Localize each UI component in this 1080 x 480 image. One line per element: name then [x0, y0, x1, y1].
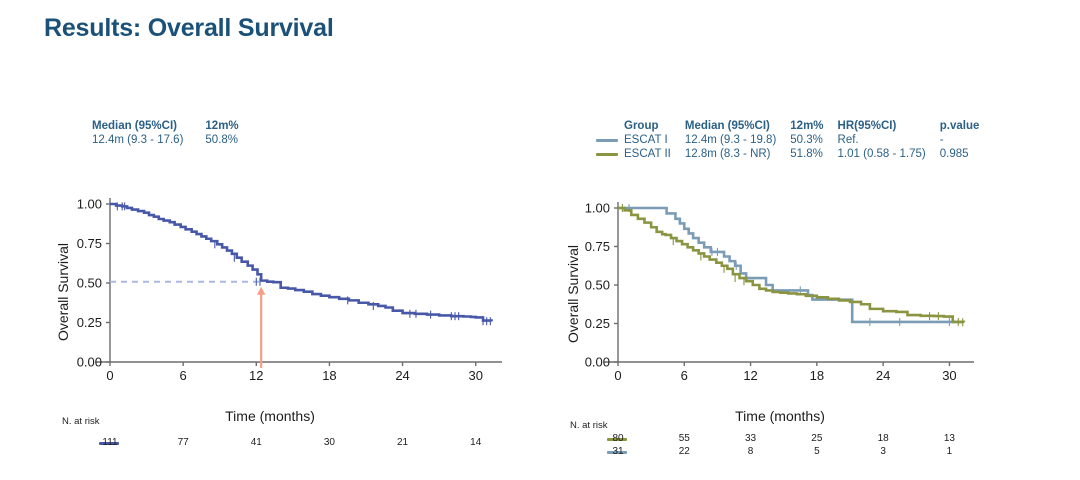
risk-count: 80 [600, 433, 636, 444]
risk-count: 5 [799, 446, 835, 457]
col-header-12m: 12m% [790, 120, 837, 134]
cell-12m: 51.8% [790, 148, 837, 162]
x-tick-label: 30 [468, 368, 482, 383]
x-tick-label: 18 [322, 368, 336, 383]
right-risk-label: N. at risk [570, 420, 607, 431]
y-tick-label: 1.00 [77, 197, 102, 212]
cell-median: 12.4m (9.3 - 19.8) [685, 134, 790, 148]
y-tick-label: 0.00 [585, 355, 610, 370]
y-tick-label: 0.50 [77, 276, 102, 291]
x-tick-label: 0 [106, 368, 113, 383]
risk-row: 31228531 [0, 446, 1080, 459]
table-header-row: Group Median (95%CI) 12m% HR(95%CI) p.va… [596, 120, 979, 134]
x-tick-label: 30 [942, 368, 956, 383]
legend-swatch-escat1-cell [596, 134, 624, 148]
legend-line-icon [596, 153, 618, 156]
table-row: ESCAT I 12.4m (9.3 - 19.8) 50.3% Ref. - [596, 134, 979, 148]
x-tick-label: 12 [743, 368, 757, 383]
table-row: 12.4m (9.3 - 17.6) 50.8% [92, 134, 239, 148]
right-km-svg: 0.000.250.500.751.000612182430 [604, 202, 972, 388]
right-y-axis-label: Overall Survival [565, 219, 581, 369]
x-tick-label: 6 [681, 368, 688, 383]
arrow-head [257, 287, 265, 295]
col-header-group: Group [624, 120, 685, 134]
x-tick-label: 6 [180, 368, 187, 383]
risk-count: 8 [733, 446, 769, 457]
risk-count: 13 [931, 433, 967, 444]
left-km-svg: 0.000.250.500.751.000612182430 [96, 198, 500, 388]
col-header-12m: 12m% [205, 120, 238, 134]
cell-hr: Ref. [838, 134, 940, 148]
legend-swatch-escat2-cell [596, 148, 624, 162]
left-risk-label: N. at risk [62, 416, 99, 427]
right-km-plot: 0.000.250.500.751.000612182430 [604, 202, 972, 388]
left-x-axis-label: Time (months) [190, 408, 350, 424]
risk-count: 22 [666, 446, 702, 457]
cell-median: 12.4m (9.3 - 17.6) [92, 134, 205, 148]
page-title: Results: Overall Survival [44, 14, 334, 43]
x-tick-label: 12 [249, 368, 263, 383]
risk-count: 55 [666, 433, 702, 444]
left-km-plot: 0.000.250.500.751.000612182430 [96, 198, 500, 388]
right-summary-table: Group Median (95%CI) 12m% HR(95%CI) p.va… [596, 120, 979, 162]
legend-line-icon [596, 139, 618, 142]
cell-pvalue: - [940, 134, 980, 148]
km-curve-escat-ii [618, 208, 964, 322]
x-tick-label: 18 [810, 368, 824, 383]
y-tick-label: 1.00 [585, 201, 610, 216]
left-y-axis-label: Overall Survival [55, 217, 71, 367]
col-header-pvalue: p.value [940, 120, 980, 134]
risk-count: 25 [799, 433, 835, 444]
x-tick-label: 24 [395, 368, 409, 383]
km-curve-escat-i [618, 208, 964, 322]
right-x-axis-label: Time (months) [700, 408, 860, 424]
cell-12m: 50.8% [205, 134, 238, 148]
y-tick-label: 0.25 [585, 316, 610, 331]
risk-count: 1 [931, 446, 967, 457]
risk-count: 33 [733, 433, 769, 444]
y-tick-label: 0.50 [585, 278, 610, 293]
risk-count: 18 [865, 433, 901, 444]
table-row: ESCAT II 12.8m (8.3 - NR) 51.8% 1.01 (0.… [596, 148, 979, 162]
left-summary-table: Median (95%CI) 12m% 12.4m (9.3 - 17.6) 5… [92, 120, 239, 148]
col-header-median: Median (95%CI) [92, 120, 205, 134]
cell-hr: 1.01 (0.58 - 1.75) [838, 148, 940, 162]
x-tick-label: 24 [876, 368, 890, 383]
cell-12m: 50.3% [790, 134, 837, 148]
col-header-median: Median (95%CI) [685, 120, 790, 134]
risk-count: 31 [600, 446, 636, 457]
table-header-row: Median (95%CI) 12m% [92, 120, 239, 134]
cell-group: ESCAT II [624, 148, 685, 162]
col-header-hr: HR(95%CI) [838, 120, 940, 134]
col-header-swatch [596, 120, 624, 134]
y-tick-label: 0.75 [77, 236, 102, 251]
risk-count: 3 [865, 446, 901, 457]
y-tick-label: 0.25 [77, 315, 102, 330]
cell-pvalue: 0.985 [940, 148, 980, 162]
cell-median: 12.8m (8.3 - NR) [685, 148, 790, 162]
cell-group: ESCAT I [624, 134, 685, 148]
y-tick-label: 0.75 [585, 239, 610, 254]
km-curve-all-patients [110, 204, 492, 321]
median-arrow [257, 287, 265, 368]
risk-row: 805533251813 [0, 433, 1080, 446]
x-tick-label: 0 [614, 368, 621, 383]
y-tick-label: 0.00 [77, 355, 102, 370]
